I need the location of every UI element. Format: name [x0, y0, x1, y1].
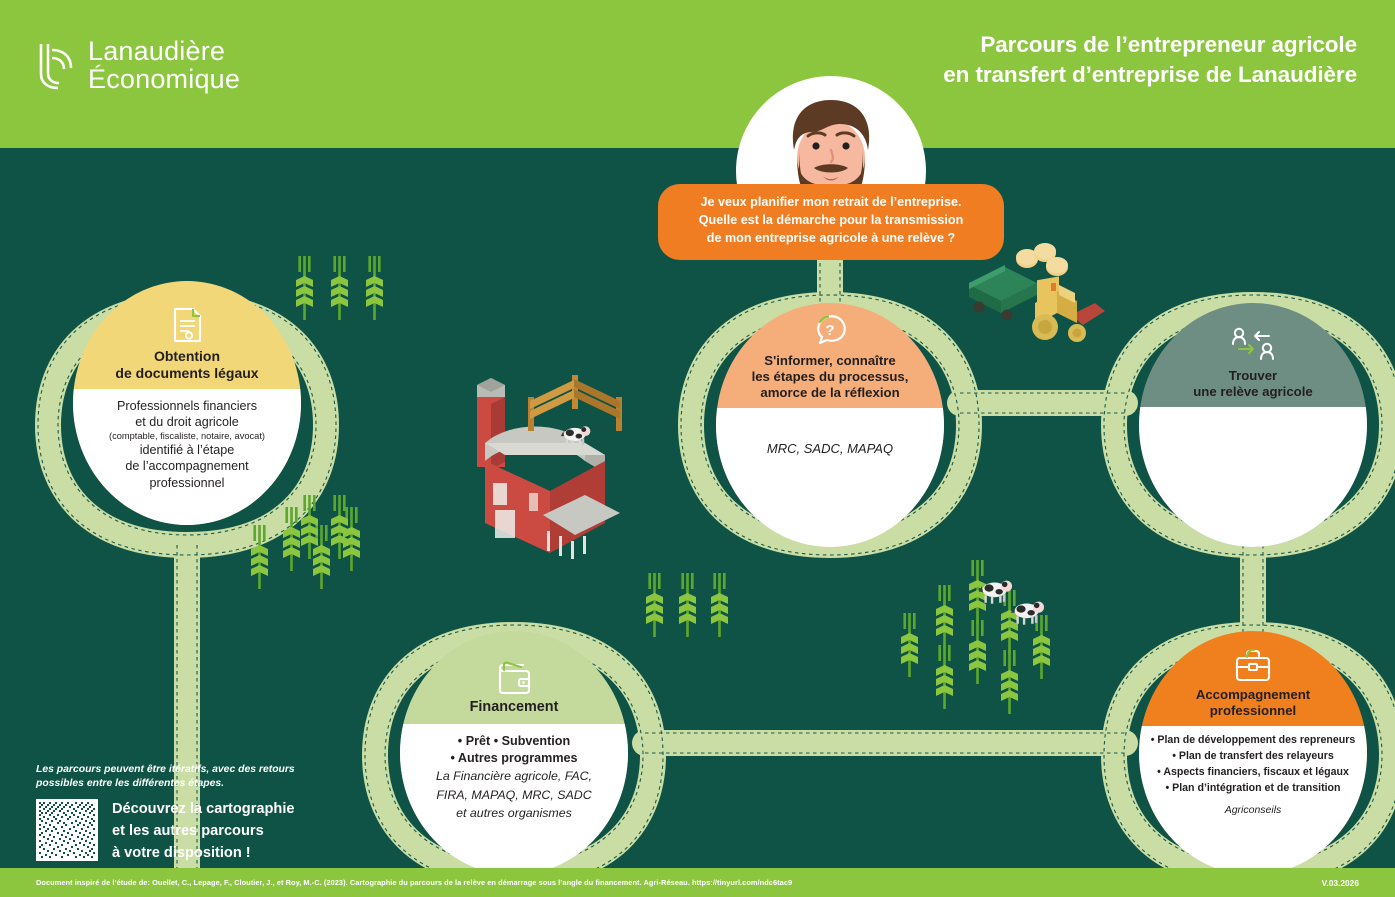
node-docs-body-line-1: Professionnels financiers	[87, 398, 287, 414]
node-accomp-bullet-3: • Aspects financiers, fiscaux et légaux	[1147, 765, 1359, 781]
iterative-note-block: Les parcours peuvent être itératifs, ave…	[36, 763, 336, 865]
node-accomp-bullet-2: • Plan de transfert des relayeurs	[1147, 749, 1359, 765]
node-financement[interactable]: Financement • Prêt • Subvention • Autres…	[400, 631, 628, 875]
node-obtention-documents-legaux[interactable]: Obtention de documents légaux Profession…	[73, 281, 301, 525]
bubble-line-3: de mon entreprise agricole à une relève …	[672, 230, 990, 248]
cta-line-3: à votre disposition !	[112, 843, 295, 865]
logo-line-1: Lanaudière	[88, 38, 240, 66]
question-bubble-icon: ?	[811, 313, 849, 349]
node-releve-title-line-1: Trouver	[1193, 368, 1312, 384]
qr-code-icon[interactable]	[36, 799, 98, 861]
bubble-line-2: Quelle est la démarche pour la transmiss…	[672, 212, 990, 230]
bubble-line-1: Je veux planifier mon retrait de l’entre…	[672, 194, 990, 212]
logo-line-2: Économique	[88, 66, 240, 94]
node-accomp-title-line-1: Accompagnement	[1196, 687, 1310, 703]
node-finance-title-line-1: Financement	[470, 699, 559, 717]
node-docs-title-line-2: de documents légaux	[115, 365, 258, 382]
node-info-title-line-1: S'informer, connaître	[752, 353, 909, 369]
node-trouver-releve-agricole[interactable]: Trouver une relève agricole	[1139, 303, 1367, 547]
node-docs-body-small: (comptable, fiscaliste, notaire, avocat)	[87, 430, 287, 442]
farmer-avatar	[736, 76, 926, 186]
iterative-note-text: Les parcours peuvent être itératifs, ave…	[36, 763, 336, 791]
footer-version: V.03.2026	[1322, 878, 1359, 888]
node-info-title-line-3: amorce de la réflexion	[752, 385, 909, 401]
document-icon	[170, 306, 204, 344]
iterative-note-line-2: possibles entre les différentes étapes.	[36, 777, 336, 791]
node-sinformer[interactable]: ? S'informer, connaître les étapes du pr…	[716, 303, 944, 547]
node-accomp-title: Accompagnement professionnel	[1196, 687, 1310, 726]
node-accomp-bullet-4: • Plan d’intégration et de transition	[1147, 781, 1359, 797]
iterative-note-line-1: Les parcours peuvent être itératifs, ave…	[36, 763, 336, 777]
farmer-avatar-icon	[736, 76, 926, 186]
cta-line-1: Découvrez la cartographie	[112, 799, 295, 821]
node-finance-title: Financement	[470, 699, 559, 724]
brand-logo: Lanaudière Économique	[38, 38, 240, 93]
node-releve-title-line-2: une relève agricole	[1193, 384, 1312, 400]
node-accomp-title-line-2: professionnel	[1196, 703, 1310, 719]
page-title-line-2: en transfert d’entreprise de Lanaudière	[943, 60, 1357, 90]
node-accompagnement-professionnel[interactable]: Accompagnement professionnel • Plan de d…	[1139, 631, 1367, 875]
node-docs-title: Obtention de documents légaux	[115, 348, 258, 389]
infographic-page: Lanaudière Économique Parcours de l’entr…	[0, 0, 1395, 897]
wallet-icon	[495, 661, 533, 695]
page-title-line-1: Parcours de l’entrepreneur agricole	[943, 30, 1357, 60]
node-docs-body-line-2: et du droit agricole	[87, 414, 287, 430]
brand-logo-wordmark: Lanaudière Économique	[88, 38, 240, 93]
people-exchange-icon	[1229, 326, 1277, 364]
node-info-title-line-2: les étapes du processus,	[752, 369, 909, 385]
node-docs-body-line-3: identifié à l’étape	[87, 442, 287, 458]
node-docs-body-line-5: professionnel	[87, 475, 287, 491]
node-info-title: S'informer, connaître les étapes du proc…	[752, 353, 909, 408]
node-docs-title-line-1: Obtention	[115, 348, 258, 365]
page-title: Parcours de l’entrepreneur agricole en t…	[943, 30, 1357, 90]
svg-text:?: ?	[825, 322, 834, 339]
page-header: Lanaudière Économique Parcours de l’entr…	[0, 0, 1395, 148]
page-footer: Document inspiré de l’étude de: Ouellet,…	[0, 868, 1395, 897]
cta-text: Découvrez la cartographie et les autres …	[112, 799, 295, 865]
node-accomp-bullet-1: • Plan de développement des repreneurs	[1147, 733, 1359, 749]
footer-source-citation: Document inspiré de l’étude de: Ouellet,…	[36, 878, 792, 887]
node-info-body-italic: MRC, SADC, MAPAQ	[730, 417, 930, 456]
node-finance-bullet-1: • Prêt • Subvention	[414, 733, 614, 750]
briefcase-icon	[1233, 647, 1273, 683]
node-finance-italic-3: et autres organismes	[414, 803, 614, 821]
speech-bubble: Je veux planifier mon retrait de l’entre…	[658, 184, 1004, 260]
node-releve-title: Trouver une relève agricole	[1193, 368, 1312, 407]
node-finance-italic-1: La Financière agricole, FAC,	[414, 766, 614, 784]
node-docs-body-line-4: de l’accompagnement	[87, 458, 287, 474]
node-accomp-italic-1: Agriconseils	[1147, 797, 1359, 816]
lanaudiere-swoosh-logo-icon	[38, 42, 78, 90]
cta-line-2: et les autres parcours	[112, 821, 295, 843]
node-finance-italic-2: FIRA, MAPAQ, MRC, SADC	[414, 785, 614, 803]
node-finance-bullet-2: • Autres programmes	[414, 750, 614, 767]
